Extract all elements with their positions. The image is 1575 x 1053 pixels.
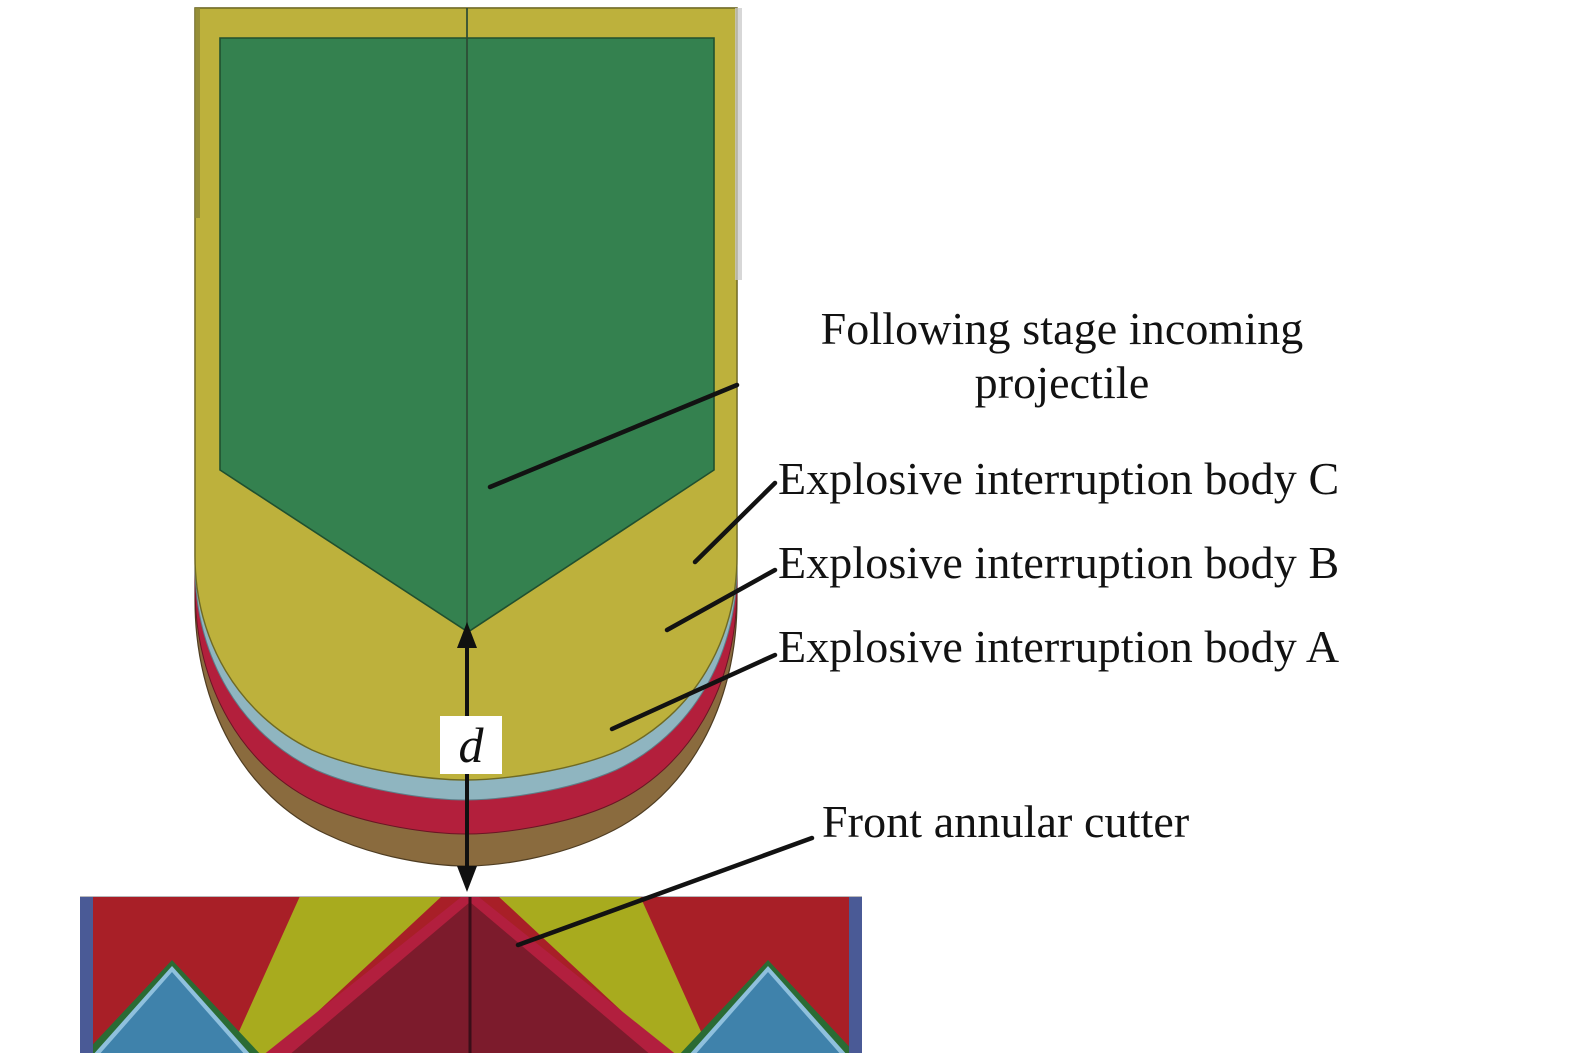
casing-right-highlight — [735, 8, 742, 280]
label-front-annular-cutter: Front annular cutter — [822, 795, 1189, 849]
label-explosive-interruption-body-a: Explosive interruption body A — [778, 620, 1339, 674]
standoff-symbol: d — [459, 720, 484, 770]
label-explosive-interruption-body-b: Explosive interruption body B — [778, 536, 1339, 590]
cutter-side-strip-right — [849, 896, 862, 1053]
label-explosive-interruption-body-c: Explosive interruption body C — [778, 452, 1339, 506]
cutter-side-strip-left — [80, 896, 93, 1053]
casing-left-shadow — [195, 8, 200, 218]
standoff-distance-label: d — [440, 716, 502, 774]
cutter-top-edge — [80, 893, 862, 897]
label-following-stage-projectile: Following stage incoming projectile — [762, 302, 1362, 411]
warhead-schematic-svg — [0, 0, 1575, 1053]
front-annular-cutter — [80, 890, 862, 1053]
figure-canvas: Following stage incoming projectile Expl… — [0, 0, 1575, 1053]
